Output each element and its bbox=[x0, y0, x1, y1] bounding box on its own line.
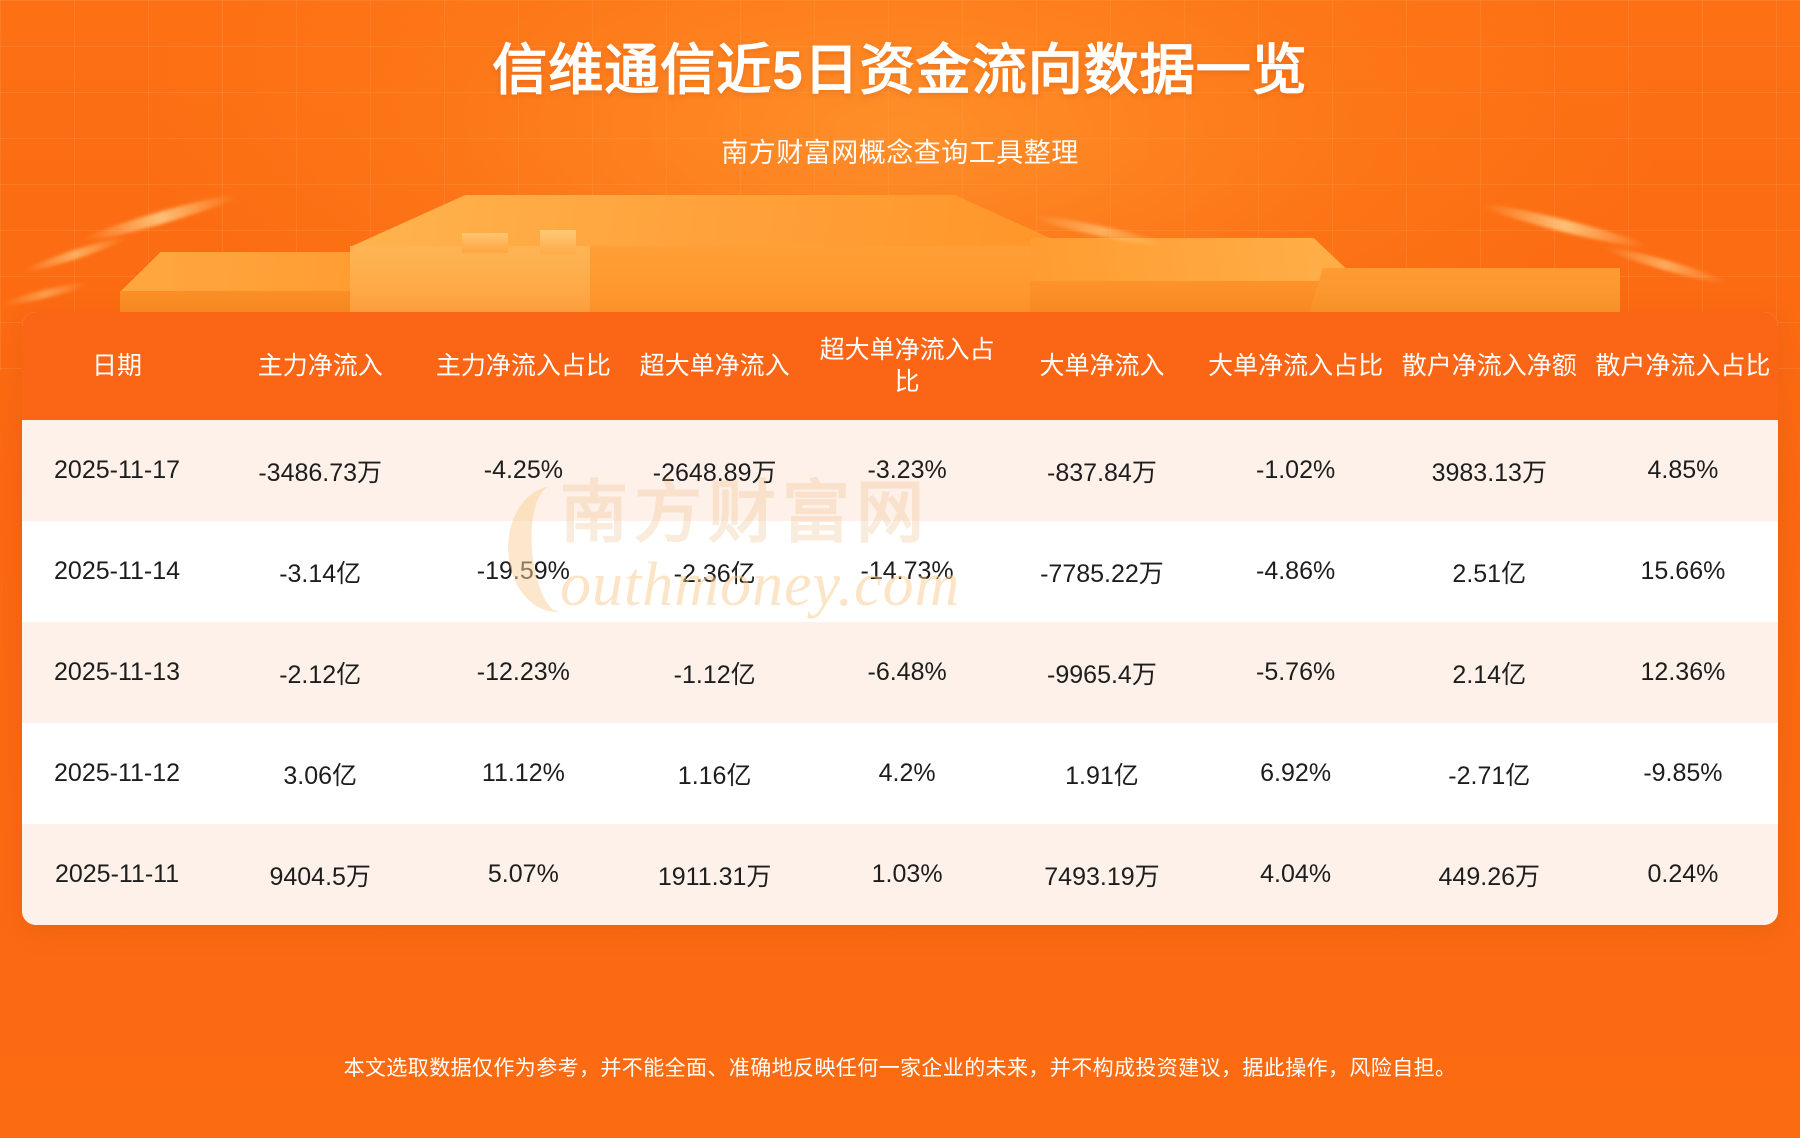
column-header-retail-pct: 散户净流入占比 bbox=[1588, 312, 1778, 420]
disclaimer-note: 本文选取数据仅作为参考，并不能全面、准确地反映任何一家企业的未来，并不构成投资建… bbox=[0, 1052, 1800, 1082]
table-header: 日期 主力净流入 主力净流入占比 超大单净流入 超大单净流入占比 大单净流入 大… bbox=[22, 312, 1778, 420]
cell-date: 2025-11-12 bbox=[22, 723, 212, 824]
cell-date: 2025-11-11 bbox=[22, 824, 212, 925]
column-header-xl-pct: 超大单净流入占比 bbox=[811, 312, 1003, 420]
cell-date: 2025-11-17 bbox=[22, 420, 212, 521]
cell-retail-net: 449.26万 bbox=[1391, 824, 1588, 925]
cell-main-pct: -19.59% bbox=[428, 521, 618, 622]
cell-xl-net: 1911.31万 bbox=[618, 824, 810, 925]
cell-xl-net: -2.36亿 bbox=[618, 521, 810, 622]
cell-date: 2025-11-13 bbox=[22, 622, 212, 723]
cell-main-pct: 11.12% bbox=[428, 723, 618, 824]
column-header-date: 日期 bbox=[22, 312, 212, 420]
cell-retail-net: -2.71亿 bbox=[1391, 723, 1588, 824]
cell-xl-pct: -14.73% bbox=[811, 521, 1003, 622]
cell-retail-pct: 15.66% bbox=[1588, 521, 1778, 622]
cell-retail-net: 2.51亿 bbox=[1391, 521, 1588, 622]
cell-lg-pct: -4.86% bbox=[1201, 521, 1391, 622]
column-header-lg-net: 大单净流入 bbox=[1003, 312, 1200, 420]
cell-main-net: 3.06亿 bbox=[212, 723, 428, 824]
cell-lg-pct: -5.76% bbox=[1201, 622, 1391, 723]
cell-lg-pct: 4.04% bbox=[1201, 824, 1391, 925]
fund-flow-table: 日期 主力净流入 主力净流入占比 超大单净流入 超大单净流入占比 大单净流入 大… bbox=[22, 312, 1778, 925]
cell-xl-pct: -3.23% bbox=[811, 420, 1003, 521]
cell-lg-net: 7493.19万 bbox=[1003, 824, 1200, 925]
cell-xl-net: -1.12亿 bbox=[618, 622, 810, 723]
cell-lg-pct: 6.92% bbox=[1201, 723, 1391, 824]
table-row: 2025-11-14 -3.14亿 -19.59% -2.36亿 -14.73%… bbox=[22, 521, 1778, 622]
cell-main-net: -3486.73万 bbox=[212, 420, 428, 521]
light-streak-5 bbox=[1601, 242, 1729, 287]
cell-main-pct: 5.07% bbox=[428, 824, 618, 925]
page-subtitle: 南方财富网概念查询工具整理 bbox=[0, 131, 1800, 170]
cell-lg-net: -9965.4万 bbox=[1003, 622, 1200, 723]
light-streak-2 bbox=[21, 233, 128, 276]
cell-main-pct: -4.25% bbox=[428, 420, 618, 521]
table-row: 2025-11-17 -3486.73万 -4.25% -2648.89万 -3… bbox=[22, 420, 1778, 521]
cell-retail-pct: 0.24% bbox=[1588, 824, 1778, 925]
cell-retail-pct: 4.85% bbox=[1588, 420, 1778, 521]
cell-lg-pct: -1.02% bbox=[1201, 420, 1391, 521]
cell-main-net: -2.12亿 bbox=[212, 622, 428, 723]
table-body: 2025-11-17 -3486.73万 -4.25% -2648.89万 -3… bbox=[22, 420, 1778, 925]
column-header-lg-pct: 大单净流入占比 bbox=[1201, 312, 1391, 420]
podium-cube-a bbox=[540, 230, 576, 254]
podium-block-right-top bbox=[1030, 238, 1360, 282]
table-row: 2025-11-13 -2.12亿 -12.23% -1.12亿 -6.48% … bbox=[22, 622, 1778, 723]
page-title: 信维通信近5日资金流向数据一览 bbox=[0, 36, 1800, 105]
cell-main-net: -3.14亿 bbox=[212, 521, 428, 622]
cell-retail-net: 3983.13万 bbox=[1391, 420, 1588, 521]
column-header-main-net: 主力净流入 bbox=[212, 312, 428, 420]
cell-main-pct: -12.23% bbox=[428, 622, 618, 723]
light-streak-4 bbox=[1481, 200, 1649, 253]
cell-lg-net: 1.91亿 bbox=[1003, 723, 1200, 824]
cell-xl-pct: 1.03% bbox=[811, 824, 1003, 925]
cell-lg-net: -7785.22万 bbox=[1003, 521, 1200, 622]
column-header-main-pct: 主力净流入占比 bbox=[428, 312, 618, 420]
column-header-xl-net: 超大单净流入 bbox=[618, 312, 810, 420]
cell-xl-pct: 4.2% bbox=[811, 723, 1003, 824]
light-streak-1 bbox=[81, 190, 238, 246]
column-header-retail-net: 散户净流入净额 bbox=[1391, 312, 1588, 420]
cell-xl-net: 1.16亿 bbox=[618, 723, 810, 824]
cell-lg-net: -837.84万 bbox=[1003, 420, 1200, 521]
podium-block-center-top bbox=[350, 195, 1070, 247]
cell-retail-net: 2.14亿 bbox=[1391, 622, 1588, 723]
cell-date: 2025-11-14 bbox=[22, 521, 212, 622]
podium-cube-b bbox=[462, 233, 508, 253]
cell-main-net: 9404.5万 bbox=[212, 824, 428, 925]
cell-xl-net: -2648.89万 bbox=[618, 420, 810, 521]
table-header-row: 日期 主力净流入 主力净流入占比 超大单净流入 超大单净流入占比 大单净流入 大… bbox=[22, 312, 1778, 420]
cell-retail-pct: 12.36% bbox=[1588, 622, 1778, 723]
cell-xl-pct: -6.48% bbox=[811, 622, 1003, 723]
cell-retail-pct: -9.85% bbox=[1588, 723, 1778, 824]
table-row: 2025-11-12 3.06亿 11.12% 1.16亿 4.2% 1.91亿… bbox=[22, 723, 1778, 824]
hero-section: 信维通信近5日资金流向数据一览 南方财富网概念查询工具整理 bbox=[0, 0, 1800, 170]
light-streak-3 bbox=[0, 279, 89, 309]
fund-flow-table-card: 日期 主力净流入 主力净流入占比 超大单净流入 超大单净流入占比 大单净流入 大… bbox=[22, 312, 1778, 925]
table-row: 2025-11-11 9404.5万 5.07% 1911.31万 1.03% … bbox=[22, 824, 1778, 925]
